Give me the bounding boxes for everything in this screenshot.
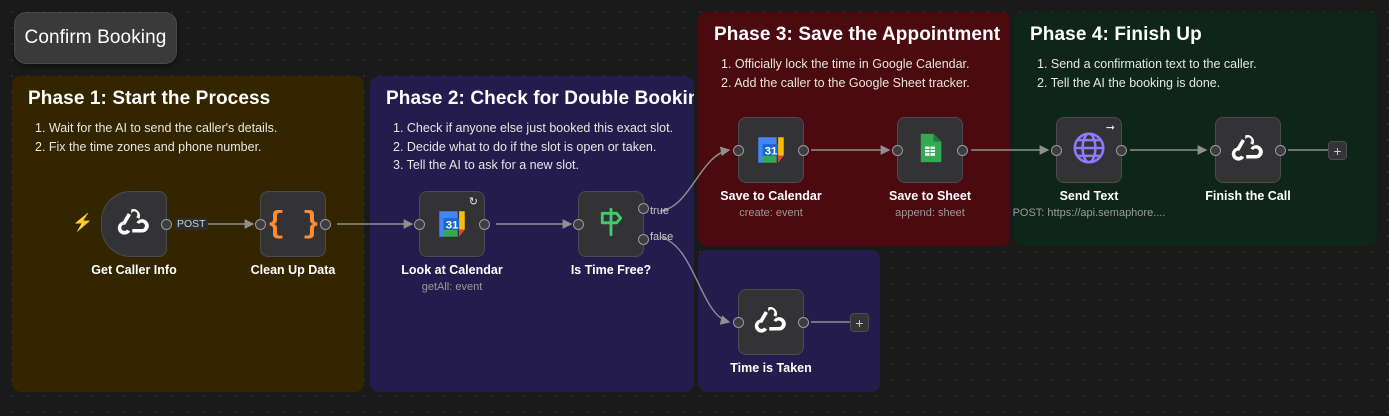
node-label: Time is Taken [730,361,812,375]
phase-step: 1. Check if anyone else just booked this… [393,119,678,138]
svg-text:31: 31 [765,145,778,157]
node-label: Clean Up Data [251,263,336,277]
node-get-caller-info[interactable]: Get Caller Info [101,191,167,257]
node-body[interactable]: 31 [738,117,804,183]
node-body[interactable]: { } [260,191,326,257]
input-port[interactable] [414,219,425,230]
globe-icon [1070,129,1108,172]
phase-step-list: 1. Send a confirmation text to the calle… [1030,55,1361,92]
node-label: Save to Sheet [889,189,971,203]
phase-step: 2. Tell the AI the booking is done. [1037,74,1361,93]
phase-title: Phase 2: Check for Double Bookings [386,88,678,110]
google-sheets-icon [913,131,947,170]
node-finish-the-call[interactable]: Finish the Call [1215,117,1281,183]
phase-step-list: 1. Wait for the AI to send the caller's … [28,119,348,156]
node-subtitle: create: event [739,207,803,219]
node-body[interactable] [1215,117,1281,183]
input-port[interactable] [733,317,744,328]
phase-title: Phase 3: Save the Appointment [714,24,994,46]
node-body[interactable] [101,191,167,257]
output-port[interactable] [1275,145,1286,156]
node-subtitle: append: sheet [895,207,965,219]
phase-step: 2. Decide what to do if the slot is open… [393,138,678,157]
sticky-note-title: Confirm Booking [25,27,167,49]
google-calendar-icon: 31 [754,133,788,167]
node-body[interactable]: ➞ [1056,117,1122,183]
phase-step: 2. Fix the time zones and phone number. [35,138,348,157]
trigger-bolt-icon: ⚡ [72,214,93,231]
input-port[interactable] [255,219,266,230]
input-port[interactable] [1051,145,1062,156]
node-body[interactable] [897,117,963,183]
phase-step: 3. Tell the AI to ask for a new slot. [393,156,678,175]
phase-step: 2. Add the caller to the Google Sheet tr… [721,74,994,93]
input-port[interactable] [892,145,903,156]
google-calendar-icon: 31 [435,207,469,241]
node-label: Finish the Call [1205,189,1290,203]
node-label: Look at Calendar [401,263,502,277]
retry-icon: ↻ [469,197,478,208]
input-port[interactable] [1210,145,1221,156]
node-subtitle: getAll: event [422,281,483,293]
node-label: Get Caller Info [91,263,176,277]
sticky-note-confirm-booking[interactable]: Confirm Booking [14,12,177,64]
output-port-false[interactable] [638,234,649,245]
output-port[interactable] [161,219,172,230]
node-subtitle: POST: https://api.semaphore.... [1013,207,1166,219]
node-body[interactable]: ↻ 31 [419,191,485,257]
node-body[interactable] [738,289,804,355]
switch-icon [592,203,630,246]
webhook-icon [115,203,153,246]
webhook-icon [752,301,790,344]
workflow-canvas[interactable]: Phase 1: Start the Process 1. Wait for t… [0,0,1389,416]
node-time-is-taken[interactable]: Time is Taken [738,289,804,355]
node-save-to-sheet[interactable]: Save to Sheet append: sheet [897,117,963,183]
arrow-right-icon: ➞ [1106,123,1115,134]
phase-step-list: 1. Check if anyone else just booked this… [386,119,678,175]
phase-title: Phase 1: Start the Process [28,88,348,110]
add-node-button[interactable]: + [1328,141,1347,160]
phase-step-list: 1. Officially lock the time in Google Ca… [714,55,994,92]
node-save-to-calendar[interactable]: 31 Save to Calendar create: event [738,117,804,183]
phase-step: 1. Officially lock the time in Google Ca… [721,55,994,74]
node-body[interactable] [578,191,644,257]
webhook-icon [1229,129,1267,172]
edge-label-post: POST [175,218,208,230]
node-is-time-free[interactable]: true false Is Time Free? [578,191,644,257]
add-node-button[interactable]: + [850,313,869,332]
output-label-false: false [650,231,673,243]
node-label: Save to Calendar [720,189,821,203]
phase-title: Phase 4: Finish Up [1030,24,1361,46]
output-port[interactable] [479,219,490,230]
node-clean-up-data[interactable]: { } Clean Up Data [260,191,326,257]
input-port[interactable] [733,145,744,156]
svg-text:31: 31 [446,219,459,231]
output-port[interactable] [1116,145,1127,156]
node-send-text[interactable]: ➞ Send Text POST: https://api.semaphore.… [1056,117,1122,183]
output-port[interactable] [798,317,809,328]
output-port[interactable] [798,145,809,156]
code-icon: { } [267,207,320,242]
node-look-at-calendar[interactable]: ↻ 31 Look at Calendar getAll: event [419,191,485,257]
input-port[interactable] [573,219,584,230]
node-label: Is Time Free? [571,263,651,277]
node-label: Send Text [1060,189,1119,203]
output-port[interactable] [320,219,331,230]
output-port[interactable] [957,145,968,156]
phase-step: 1. Send a confirmation text to the calle… [1037,55,1361,74]
output-label-true: true [650,205,669,217]
phase-step: 1. Wait for the AI to send the caller's … [35,119,348,138]
